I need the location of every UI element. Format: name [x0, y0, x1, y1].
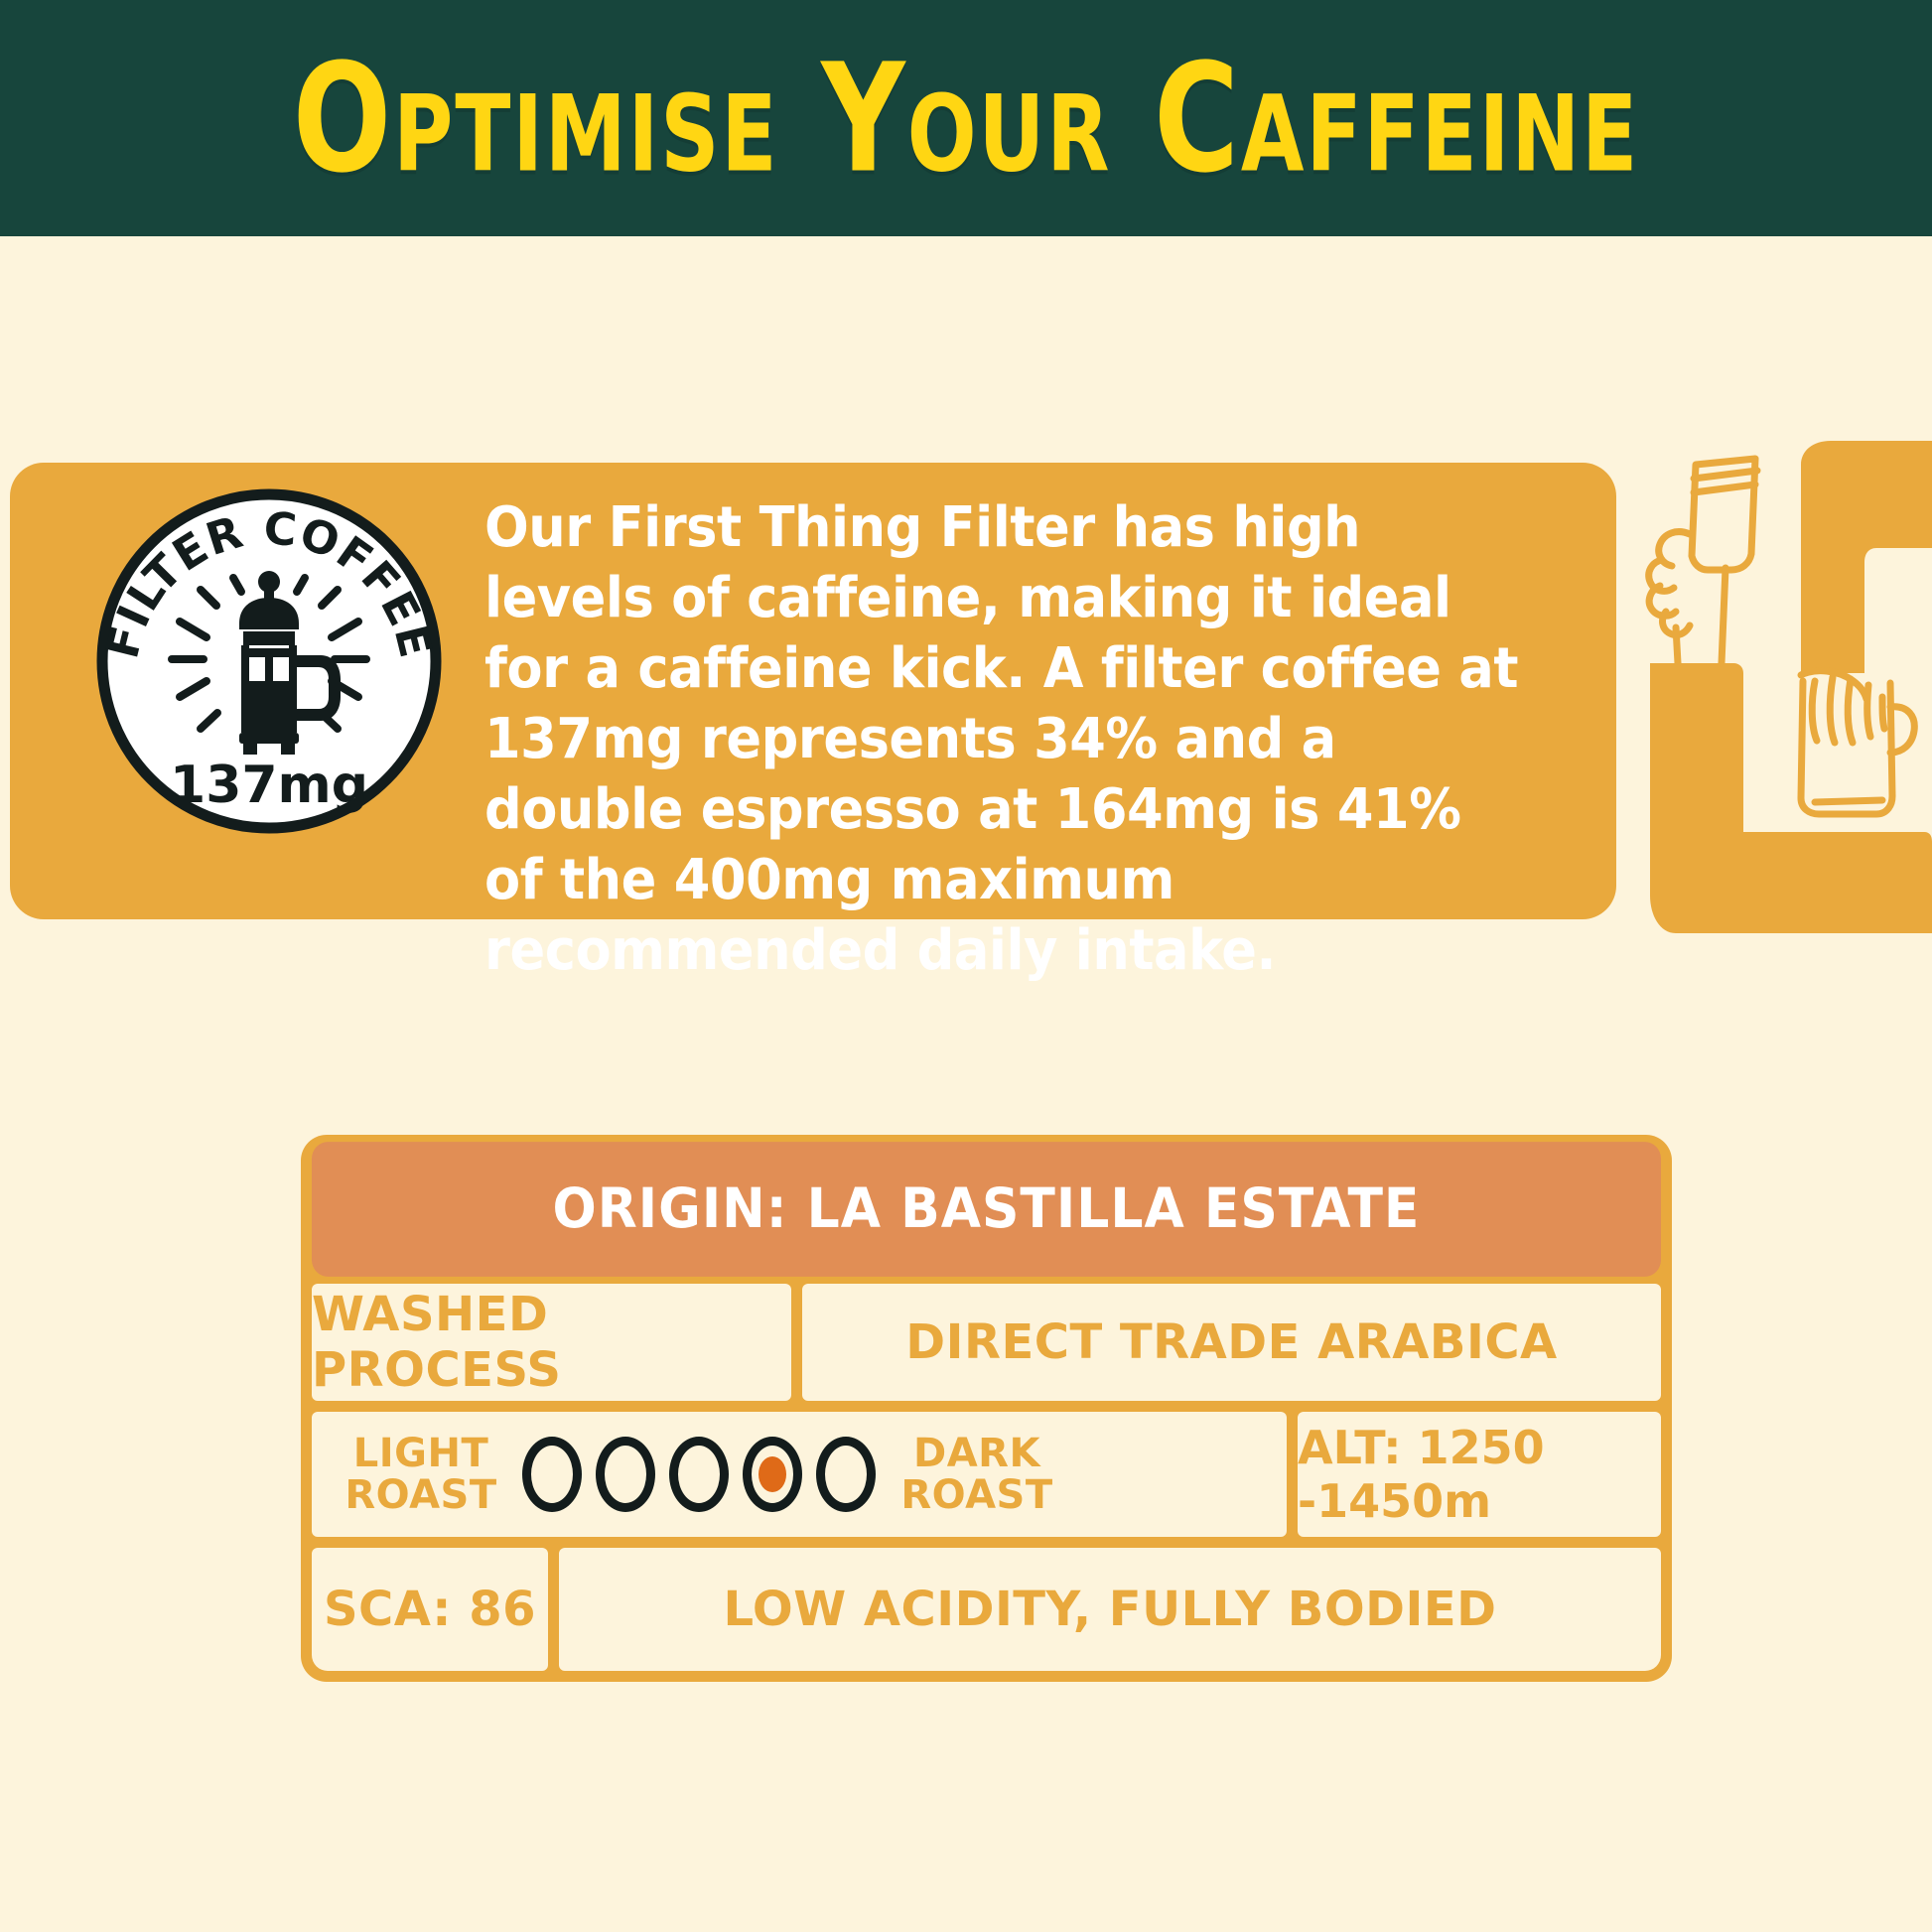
spec-cell-trade: DIRECT TRADE ARABICA: [802, 1284, 1661, 1401]
light-roast-label: LIGHT ROAST: [336, 1433, 506, 1516]
spec-cell-process: WASHED PROCESS: [312, 1284, 791, 1401]
filter-coffee-badge: FILTER COFFEE: [94, 486, 444, 836]
spec-cell-altitude: ALT: 1250 -1450m: [1298, 1412, 1661, 1537]
roast-dot-1[interactable]: [522, 1437, 582, 1512]
coffee-spec-table: ORIGIN: LA BASTILLA ESTATE WASHED PROCES…: [301, 1135, 1672, 1682]
spec-origin-header: ORIGIN: LA BASTILLA ESTATE: [312, 1142, 1661, 1277]
spec-cell-sca: SCA: 86: [312, 1548, 548, 1671]
spec-cell-roast-scale: LIGHT ROAST DARK ROAST: [312, 1412, 1287, 1537]
roast-dot-3[interactable]: [669, 1437, 729, 1512]
roast-dot-2[interactable]: [596, 1437, 655, 1512]
roast-dot-fill-4: [759, 1456, 786, 1492]
badge-amount: 137mg: [170, 756, 368, 815]
spec-row-process: WASHED PROCESS DIRECT TRADE ARABICA: [312, 1284, 1661, 1401]
spec-row-roast: LIGHT ROAST DARK ROAST ALT: 1250 -1450m: [312, 1412, 1661, 1537]
spec-cell-tasting-notes: LOW ACIDITY, FULLY BODIED: [559, 1548, 1661, 1671]
caffeine-info-card: FILTER COFFEE: [10, 463, 1616, 919]
roast-dot-4[interactable]: [743, 1437, 802, 1512]
page-header: Optimise your Caffeine: [0, 0, 1932, 236]
roast-level-dots[interactable]: [522, 1437, 876, 1512]
page-title: Optimise your Caffeine: [293, 43, 1639, 193]
roast-dot-5[interactable]: [816, 1437, 876, 1512]
caffeine-description: Our First Thing Filter has high levels o…: [484, 492, 1528, 986]
arms-holding-cups-illustration: [1616, 437, 1932, 933]
dark-roast-label: DARK ROAST: [892, 1433, 1062, 1516]
spec-row-scores: SCA: 86 LOW ACIDITY, FULLY BODIED: [312, 1548, 1661, 1671]
